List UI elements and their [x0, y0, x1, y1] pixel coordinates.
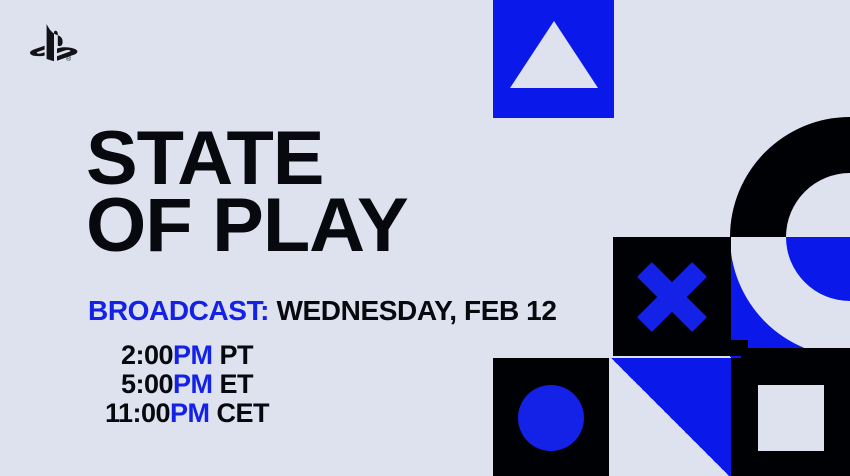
page-title: STATE OF PLAY — [86, 126, 408, 260]
broadcast-line: BROADCAST: WEDNESDAY, FEB 12 — [88, 297, 557, 325]
broadcast-label: BROADCAST: — [88, 295, 269, 326]
time-row: 11:00PM CET — [88, 399, 286, 428]
time-zone: PT — [220, 340, 254, 370]
headline-line-2: OF PLAY — [86, 193, 408, 260]
broadcast-times-list: 2:00PM PT 5:00PM ET 11:00PM CET — [88, 341, 286, 428]
ring-icon-bottom — [730, 237, 850, 357]
square-icon — [731, 358, 850, 476]
registered-trademark-mark: ® — [66, 56, 71, 63]
time-clock: 2:00 — [121, 340, 173, 370]
cross-icon — [613, 237, 731, 356]
diagonal-glyph — [611, 358, 731, 476]
playstation-logo-icon — [24, 22, 86, 70]
time-zone: ET — [220, 369, 254, 399]
ring-glyph — [730, 237, 850, 357]
circle-glyph — [518, 385, 584, 451]
time-clock: 11:00 — [105, 398, 170, 428]
time-meridiem: PM — [170, 398, 210, 428]
time-row: 5:00PM ET — [88, 370, 286, 399]
time-meridiem: PM — [173, 340, 213, 370]
time-row: 2:00PM PT — [88, 341, 286, 370]
ring-icon-top — [730, 117, 850, 237]
triangle-glyph — [510, 21, 598, 88]
time-zone: CET — [217, 398, 270, 428]
diagonal-icon — [611, 358, 731, 476]
time-meridiem: PM — [173, 369, 213, 399]
broadcast-date: WEDNESDAY, FEB 12 — [277, 295, 557, 326]
circle-icon — [493, 358, 609, 476]
ring-glyph — [730, 117, 850, 237]
time-clock: 5:00 — [121, 369, 173, 399]
triangle-icon — [493, 0, 614, 118]
square-glyph — [758, 385, 824, 451]
state-of-play-promo-card: ® STATE OF PLAY BROADCAST: WEDNESDAY, FE… — [0, 0, 850, 476]
